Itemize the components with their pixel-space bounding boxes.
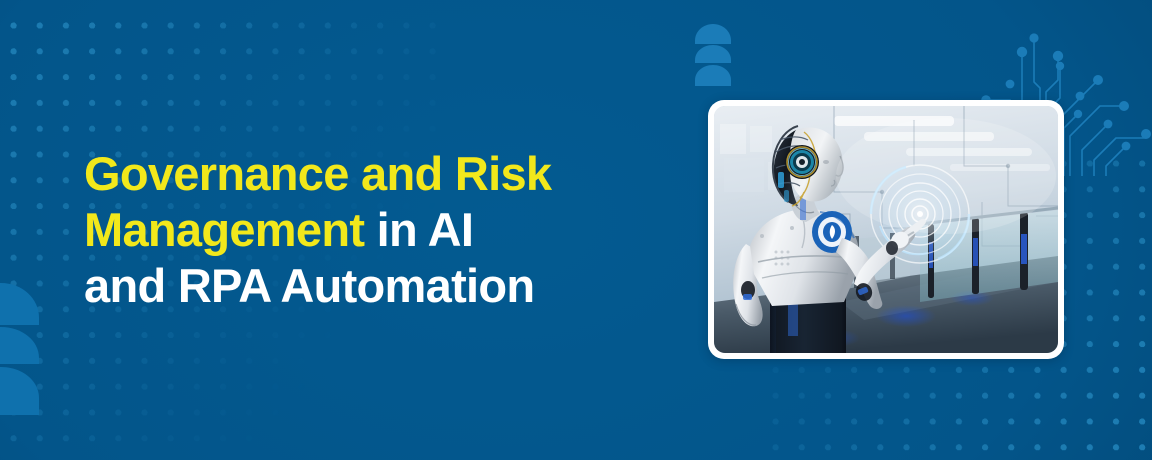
tree-motif-icon-left: [0, 281, 56, 422]
headline-line-2-accent: Management: [84, 203, 364, 256]
headline-line-3: and RPA Automation: [84, 259, 534, 312]
hero-image-card: [708, 100, 1064, 359]
headline-line-1: Governance and Risk: [84, 147, 551, 200]
headline-line-2-plain: in AI: [364, 203, 473, 256]
hero-image: [714, 106, 1058, 353]
page-title: Governance and Risk Management in AI and…: [84, 146, 684, 314]
tree-motif-icon-top: [686, 22, 740, 93]
blog-hero-banner: Governance and Risk Management in AI and…: [0, 0, 1152, 460]
